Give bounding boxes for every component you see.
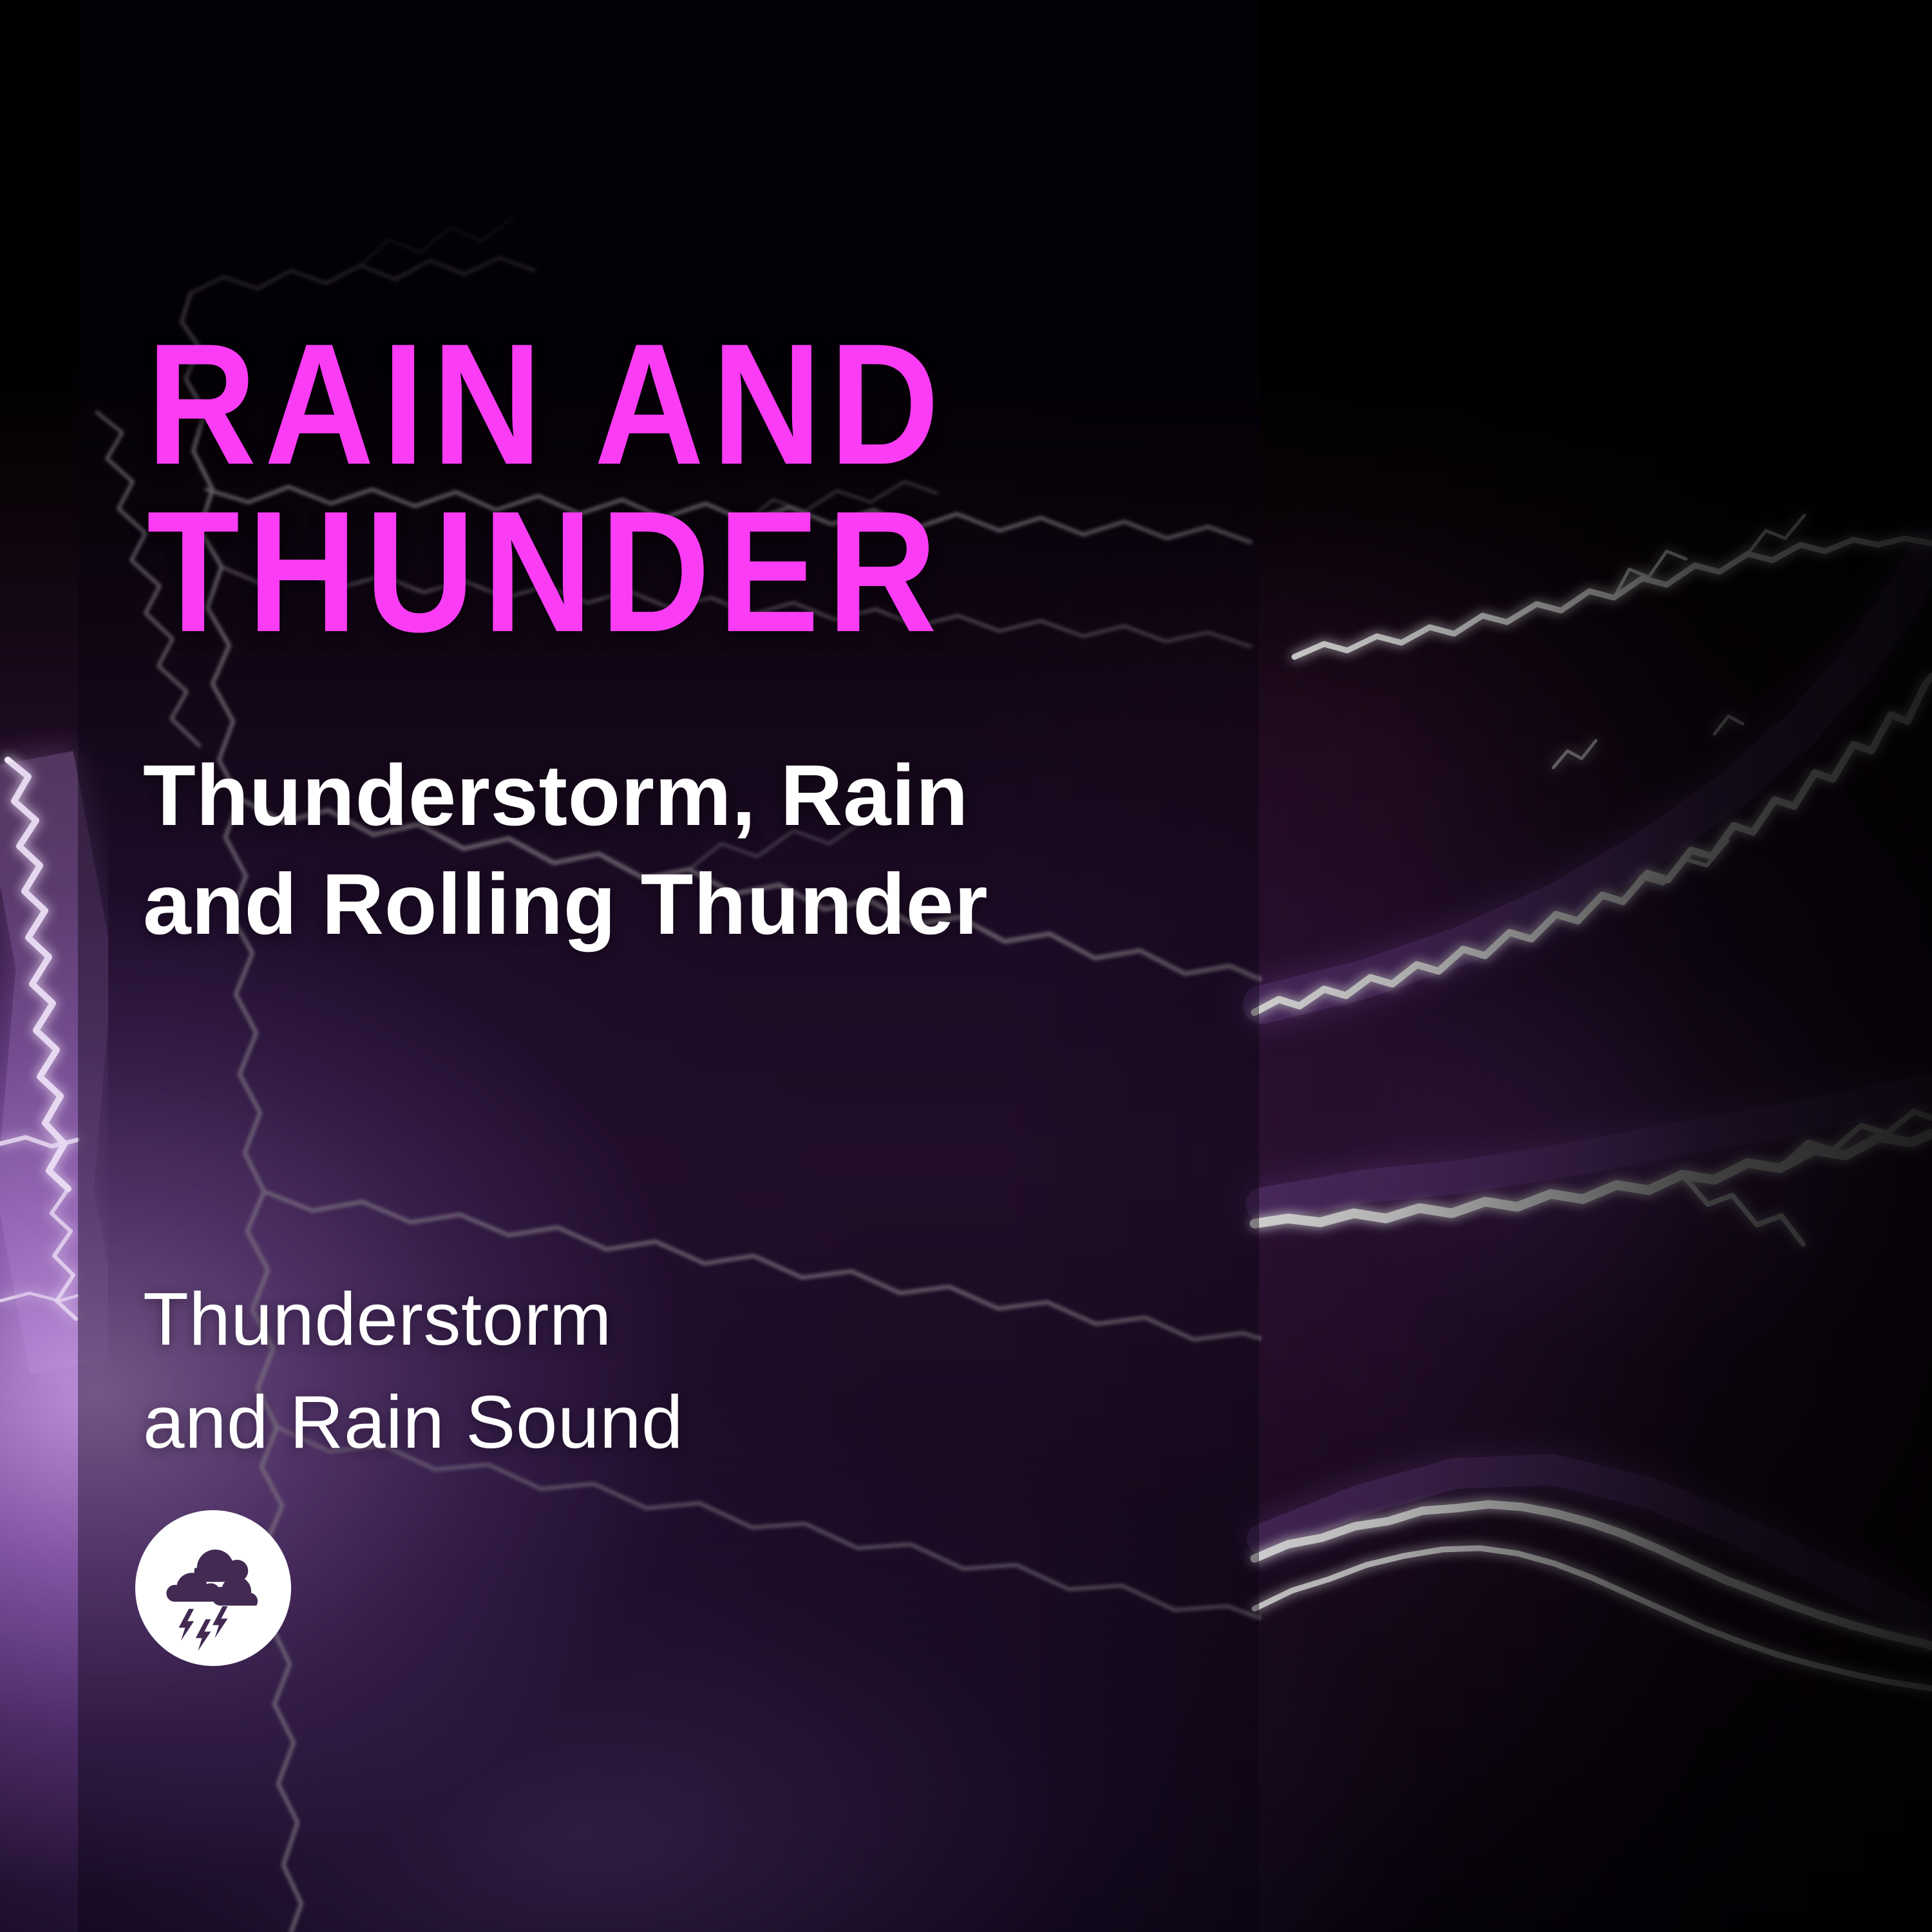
album-cover: RAIN AND THUNDER Thunderstorm, Rain and … — [0, 0, 1932, 1932]
publisher-logo — [135, 1510, 291, 1666]
cover-content: RAIN AND THUNDER Thunderstorm, Rain and … — [0, 0, 1932, 1932]
page-title: RAIN AND THUNDER — [147, 321, 1110, 656]
cover-subtitle: Thunderstorm, Rain and Rolling Thunder — [143, 742, 1199, 960]
thunderstorm-cloud-lightning-icon — [135, 1510, 291, 1666]
cover-author: Thunderstorm and Rain Sound — [143, 1267, 1045, 1473]
